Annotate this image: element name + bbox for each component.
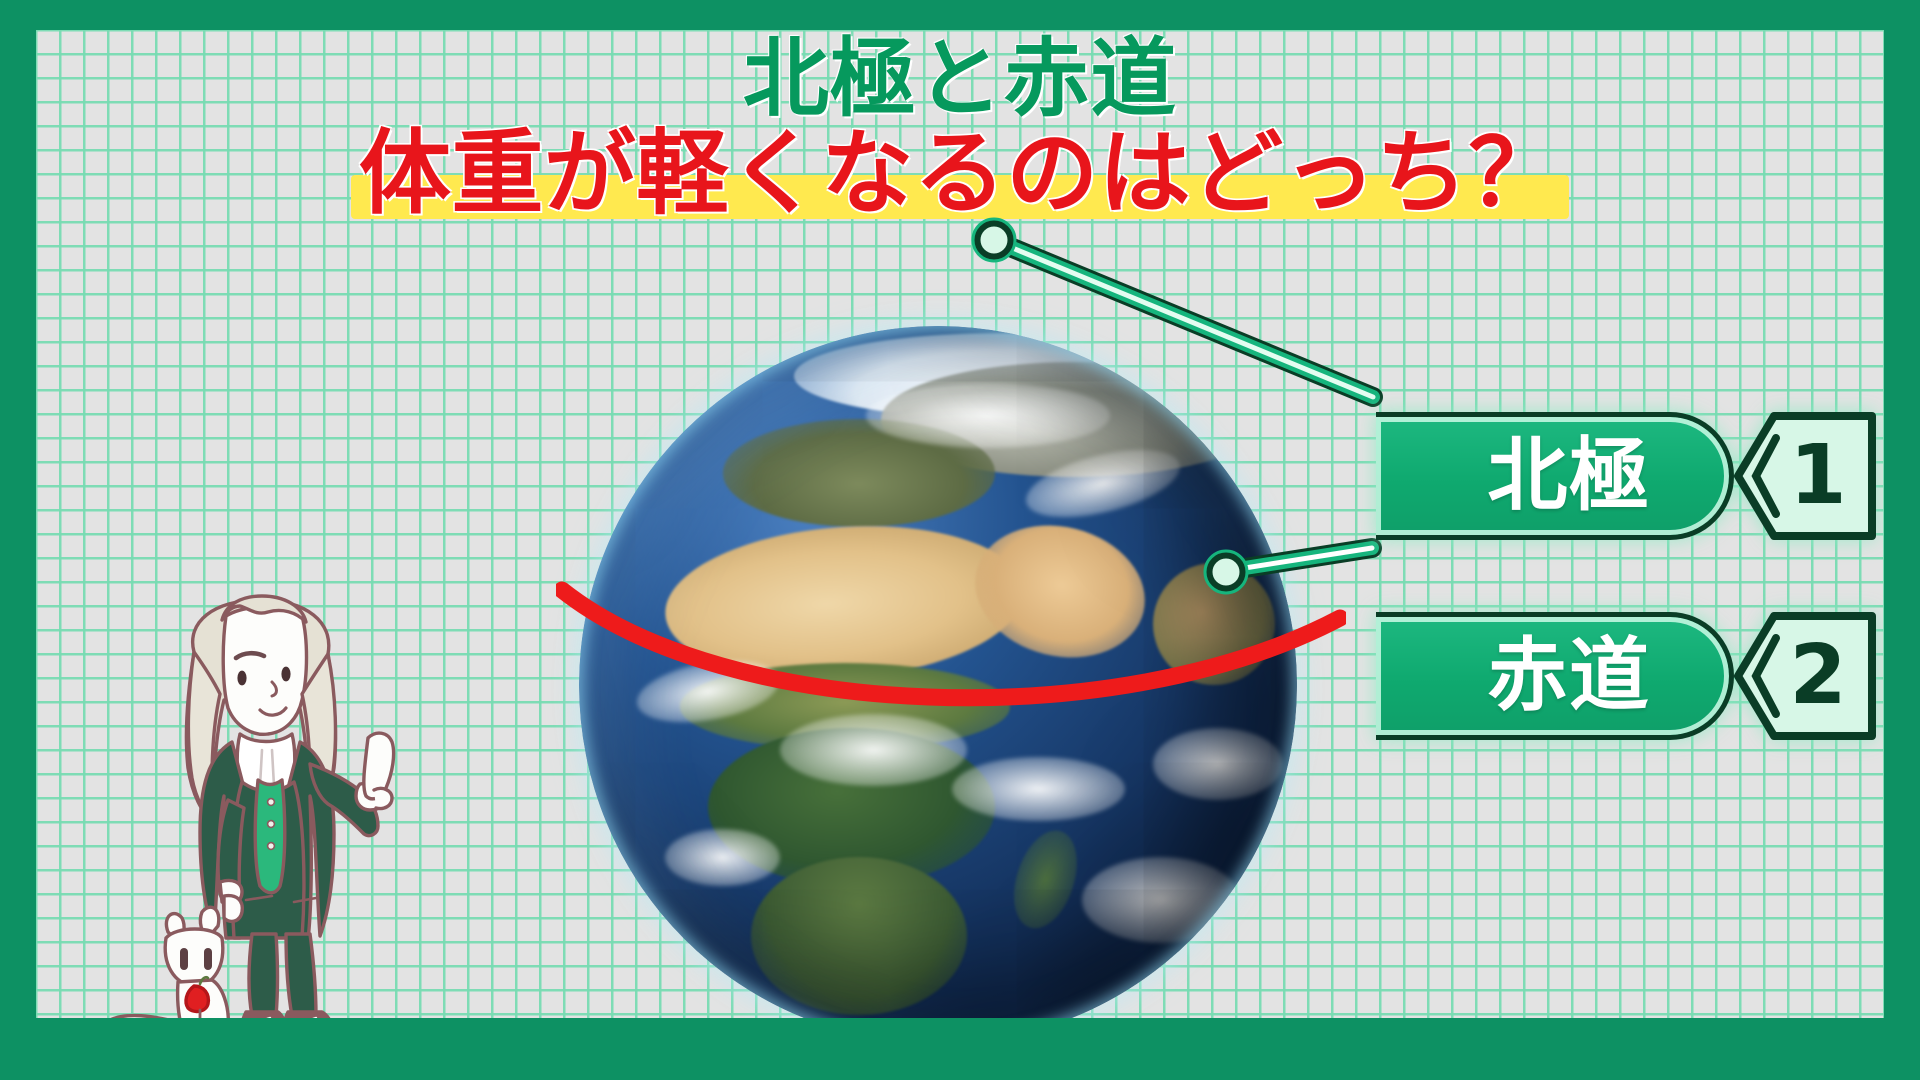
cat-tail: [101, 1016, 180, 1018]
newton-vest-button: [268, 799, 275, 806]
slide-canvas: 北極と赤道 体重が軽くなるのはどっち？: [0, 0, 1920, 1080]
newton-character-illustration: [82, 582, 442, 1018]
newton-vest: [255, 780, 285, 893]
answer-1-pill[interactable]: 北極: [1376, 412, 1734, 540]
newton-shoe-right: [285, 1012, 333, 1018]
answer-1-number-hex[interactable]: 1: [1734, 412, 1876, 540]
title-line-1: 北極と赤道: [36, 36, 1884, 122]
cat-head: [165, 929, 223, 986]
newton-eye-right: [281, 667, 290, 682]
answer-1-label: 北極: [1376, 412, 1734, 540]
answer-2-number-hex[interactable]: 2: [1734, 612, 1876, 740]
leader-1-anchor-ring: [973, 219, 1015, 261]
newton-hand-left: [224, 896, 242, 922]
answer-2-label: 赤道: [1376, 612, 1734, 740]
answer-2-pill[interactable]: 赤道: [1376, 612, 1734, 740]
cat-eye-right: [204, 948, 212, 970]
globe-atmosphere-rim: [579, 326, 1297, 1018]
newton-eye-left: [237, 671, 246, 686]
newton-leg-left: [249, 934, 278, 1016]
answer-1-number: 1: [1734, 412, 1876, 540]
cat-eye-left: [180, 948, 188, 970]
answer-option-2[interactable]: 赤道 2: [1412, 612, 1876, 740]
title-line-2-wrapper: 体重が軽くなるのはどっち？: [359, 126, 1561, 223]
answer-2-number: 2: [1734, 612, 1876, 740]
title-line-2: 体重が軽くなるのはどっち？: [359, 126, 1561, 223]
answer-option-1[interactable]: 北極 1: [1412, 412, 1876, 540]
newton-vest-button: [268, 821, 275, 828]
title-block: 北極と赤道 体重が軽くなるのはどっち？: [36, 36, 1884, 223]
earth-globe: [579, 326, 1297, 1018]
leader-1-anchor-dot: [977, 223, 1011, 257]
newton-shoe-left: [242, 1012, 286, 1018]
graph-paper-panel: 北極と赤道 体重が軽くなるのはどっち？: [36, 30, 1884, 1018]
title-highlight-bar: [351, 175, 1569, 219]
cat-apple: [186, 986, 208, 1011]
newton-vest-button: [268, 843, 275, 850]
newton-leg-right: [286, 934, 316, 1016]
newton-hand-right: [374, 788, 392, 808]
